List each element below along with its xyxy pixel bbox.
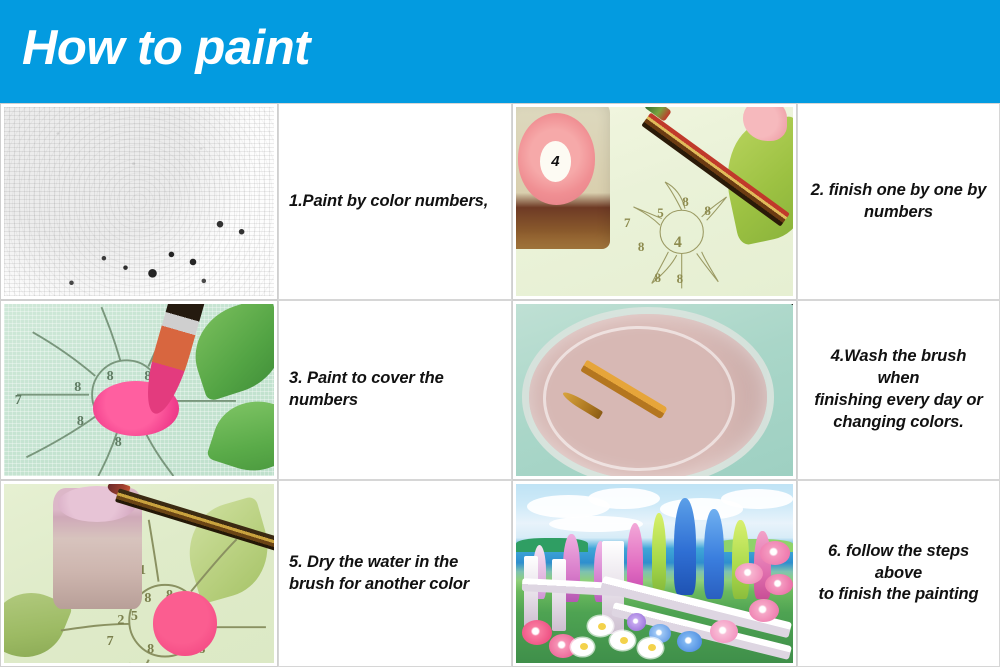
step-4-caption-cell: 4.Wash the brush when finishing every da… (797, 300, 1000, 480)
flower-spike (674, 498, 696, 595)
water-jar-illustration (516, 304, 793, 476)
page-title: How to paint (22, 17, 310, 79)
step-5-photo-cell: 1 2 5 7 8 8 8 8 (0, 480, 278, 667)
canvas-number: 8 (655, 270, 662, 286)
blank-numbered-canvas-photo (4, 107, 274, 296)
paint-pot: 4 (516, 107, 610, 249)
flower-spike (652, 513, 666, 592)
step-4-caption-line-2: finishing every day or (814, 391, 982, 409)
finished-garden-painting-illustration (516, 484, 793, 663)
paint-pot-and-brush-photo: 7 5 8 8 4 8 8 8 4 (516, 107, 793, 296)
canvas-number: 2 (117, 613, 124, 629)
flower-bloom (765, 574, 793, 595)
header-banner: How to paint (0, 0, 1000, 103)
glass-water-jar (522, 307, 774, 476)
cloud-shape (588, 488, 660, 509)
step-6-caption-line-2: to finish the painting (818, 585, 978, 603)
step-5-caption: 5. Dry the water in the brush for anothe… (289, 552, 501, 596)
flower-spike (732, 520, 749, 599)
canvas-number: 5 (657, 205, 664, 221)
daisy-center (598, 623, 606, 630)
canvas-number: 8 (144, 591, 151, 607)
step-1-photo-cell (0, 103, 278, 300)
flower-bloom (627, 613, 646, 631)
canvas-number: 4 (674, 234, 682, 252)
canvas-number: 7 (15, 393, 22, 409)
painted-pink-petal (153, 591, 218, 655)
step-6-caption: 6. follow the steps above to finish the … (808, 541, 989, 606)
flower-spike (704, 509, 723, 599)
step-5-caption-cell: 5. Dry the water in the brush for anothe… (278, 480, 512, 667)
canvas-number: 7 (107, 634, 114, 650)
step-5-caption-line-1: 5. Dry the water in the (289, 553, 458, 571)
steps-grid: 1.Paint by color numbers, (0, 103, 1000, 667)
canvas-number: 8 (74, 380, 81, 396)
step-2-photo-cell: 7 5 8 8 4 8 8 8 4 (512, 103, 797, 300)
step-2-caption-cell: 2. finish one by one by numbers (797, 103, 1000, 300)
canvas-number: 8 (638, 239, 645, 255)
canvas-number: 8 (107, 369, 114, 385)
flower-bloom (760, 541, 790, 564)
painting-petal-illustration: 7 8 8 8 8 8 (4, 304, 274, 476)
flower-bloom (735, 563, 763, 584)
step-4-caption-line-3: changing colors. (833, 413, 963, 431)
canvas-number: 8 (704, 203, 711, 219)
finished-painting-photo (516, 484, 793, 663)
step-6-caption-line-1: 6. follow the steps above (828, 542, 969, 582)
canvas-number: 8 (115, 435, 122, 451)
flower-bloom (710, 620, 738, 643)
blank-canvas-illustration (4, 107, 274, 296)
flower-bloom (522, 620, 552, 645)
canvas-number: 5 (131, 609, 138, 625)
canvas-number: 8 (677, 271, 684, 287)
step-3-caption: 3. Paint to cover the numbers (289, 368, 501, 412)
step-2-caption-line-2: numbers (864, 203, 933, 221)
cloud-shape (721, 489, 793, 509)
step-2-caption-line-1: 2. finish one by one by (811, 181, 987, 199)
drying-brush-illustration: 1 2 5 7 8 8 8 8 (4, 484, 274, 663)
step-4-caption: 4.Wash the brush when finishing every da… (808, 346, 989, 433)
canvas-number: 8 (147, 642, 154, 658)
step-1-caption: 1.Paint by color numbers, (289, 191, 501, 213)
fence-post (552, 559, 566, 631)
flower-bloom (749, 599, 779, 622)
step-3-photo-cell: 7 8 8 8 8 8 (0, 300, 278, 480)
step-4-caption-line-1: 4.Wash the brush when (831, 347, 967, 387)
canvas-number: 8 (682, 194, 689, 210)
step-5-caption-line-2: brush for another color (289, 575, 469, 593)
brush-covering-numbers-photo: 7 8 8 8 8 8 (4, 304, 274, 476)
step-6-photo-cell (512, 480, 797, 667)
step-4-photo-cell (512, 300, 797, 480)
flower-bloom (677, 631, 702, 652)
numbered-canvas-illustration: 7 5 8 8 4 8 8 8 4 (516, 107, 793, 296)
canvas-number: 7 (624, 215, 631, 231)
step-3-caption-cell: 3. Paint to cover the numbers (278, 300, 512, 480)
washing-brush-in-jar-photo (516, 304, 793, 476)
step-1-caption-cell: 1.Paint by color numbers, (278, 103, 512, 300)
step-6-caption-cell: 6. follow the steps above to finish the … (797, 480, 1000, 667)
step-2-caption: 2. finish one by one by numbers (808, 180, 989, 224)
drying-brush-photo: 1 2 5 7 8 8 8 8 (4, 484, 274, 663)
canvas-number: 8 (77, 414, 84, 430)
